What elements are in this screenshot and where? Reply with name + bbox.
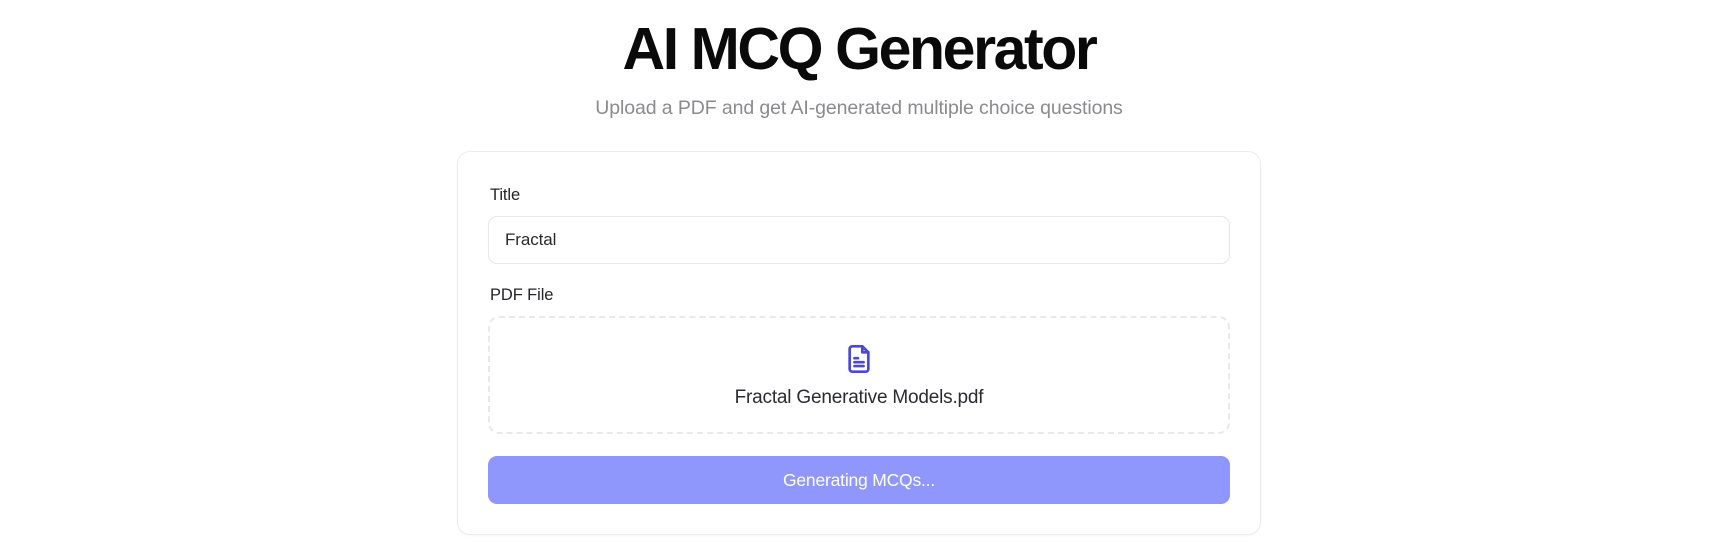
title-input[interactable] bbox=[488, 216, 1230, 264]
selected-file-name: Fractal Generative Models.pdf bbox=[735, 388, 984, 407]
pdf-field-label: PDF File bbox=[490, 286, 1230, 305]
mcq-generator-card: Title PDF File Fractal Generative Models… bbox=[457, 151, 1261, 535]
pdf-dropzone[interactable]: Fractal Generative Models.pdf bbox=[488, 316, 1230, 434]
page-subtitle: Upload a PDF and get AI-generated multip… bbox=[0, 96, 1718, 121]
page-title: AI MCQ Generator bbox=[0, 18, 1718, 82]
title-field-label: Title bbox=[490, 186, 1230, 205]
page-header: AI MCQ Generator Upload a PDF and get AI… bbox=[0, 0, 1718, 121]
title-field-group: Title bbox=[488, 186, 1230, 264]
pdf-field-group: PDF File Fractal Generative Models.pdf bbox=[488, 286, 1230, 434]
app-root: AI MCQ Generator Upload a PDF and get AI… bbox=[0, 0, 1718, 542]
generate-mcqs-button[interactable]: Generating MCQs... bbox=[488, 456, 1230, 504]
submit-row: Generating MCQs... bbox=[488, 456, 1230, 504]
document-file-icon bbox=[843, 343, 875, 375]
